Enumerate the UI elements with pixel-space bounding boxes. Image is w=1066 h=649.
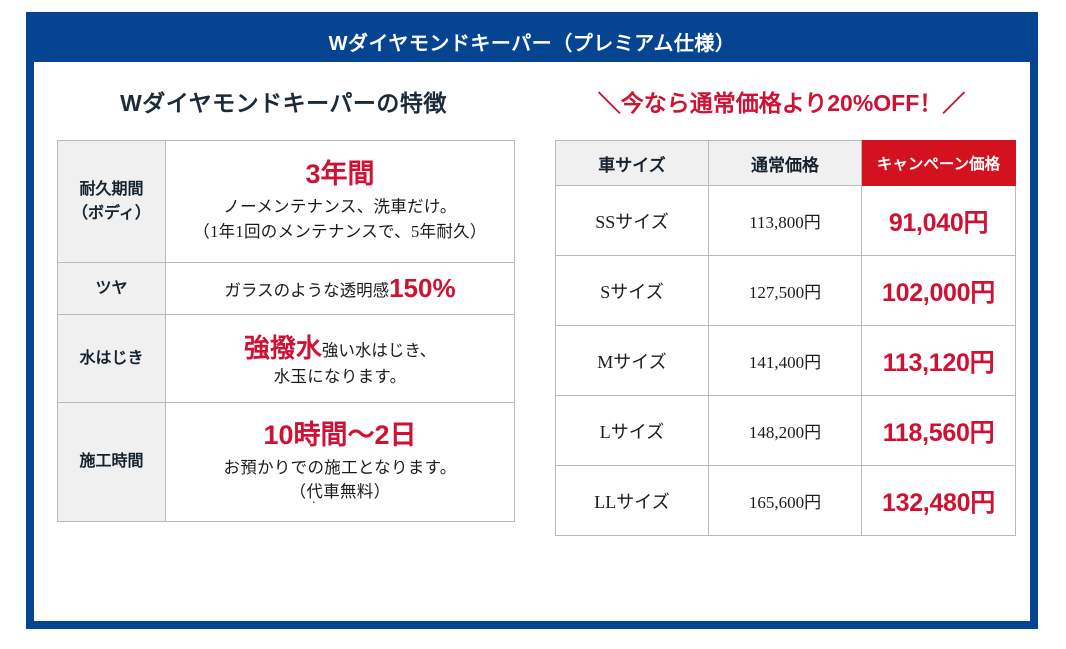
page-root: Wダイヤモンドキーパー（プレミアム仕様） Wダイヤモンドキーパーの特徴 耐久期間… [0, 0, 1066, 649]
cell-campaign-price: 113,120円 [862, 326, 1016, 396]
features-table: 耐久期間 （ボディ） 3年間 ノーメンテナンス、洗車だけ。 （1年1回のメンテナ… [57, 140, 515, 522]
table-header-row: 車サイズ 通常価格 キャンペーン価格 [556, 141, 1016, 186]
feature-detail-line2: 水玉になります。 [174, 365, 506, 390]
table-row: 耐久期間 （ボディ） 3年間 ノーメンテナンス、洗車だけ。 （1年1回のメンテナ… [58, 141, 515, 263]
feature-highlight: 3年間 [174, 158, 506, 192]
pricing-table: 車サイズ 通常価格 キャンペーン価格 SSサイズ 113,800円 91,040… [555, 140, 1016, 536]
column-header-campaign-price: キャンペーン価格 [862, 141, 1016, 186]
feature-value-water-repellency: 強撥水強い水はじき、 水玉になります。 [166, 315, 515, 403]
panel-title: Wダイヤモンドキーパー（プレミアム仕様） [329, 27, 736, 56]
cell-regular-price: 141,400円 [709, 326, 862, 396]
cell-regular-price: 113,800円 [709, 186, 862, 256]
feature-value-work-time: 10時間〜2日 お預かりでの施工となります。 （代車無料） [166, 403, 515, 522]
feature-highlight: 150% [389, 273, 456, 303]
column-header-size: 車サイズ [556, 141, 709, 186]
cell-regular-price: 127,500円 [709, 256, 862, 326]
cell-size: Mサイズ [556, 326, 709, 396]
table-row: 施工時間 10時間〜2日 お預かりでの施工となります。 （代車無料） [58, 403, 515, 522]
feature-label-work-time: 施工時間 [58, 403, 166, 522]
feature-suffix: 強い水はじき、 [322, 341, 436, 360]
feature-label-gloss: ツヤ [58, 263, 166, 315]
table-row: 水はじき 強撥水強い水はじき、 水玉になります。 [58, 315, 515, 403]
feature-value-gloss: ガラスのような透明感150% [166, 263, 515, 315]
feature-label-line2: （ボディ） [72, 205, 151, 222]
panel-body: Wダイヤモンドキーパーの特徴 耐久期間 （ボディ） 3年間 ノーメンテナンス、洗… [34, 62, 1030, 621]
panel-header: Wダイヤモンドキーパー（プレミアム仕様） [34, 20, 1030, 62]
product-panel: Wダイヤモンドキーパー（プレミアム仕様） Wダイヤモンドキーパーの特徴 耐久期間… [26, 12, 1038, 629]
feature-label-line1: 耐久期間 [79, 181, 143, 198]
cell-size: LLサイズ [556, 466, 709, 536]
feature-label-water-repellency: 水はじき [58, 315, 166, 403]
feature-detail-line1: お預かりでの施工となります。 [174, 456, 506, 481]
table-row: Mサイズ 141,400円 113,120円 [556, 326, 1016, 396]
table-row: Sサイズ 127,500円 102,000円 [556, 256, 1016, 326]
features-heading: Wダイヤモンドキーパーの特徴 [34, 84, 533, 118]
cell-campaign-price: 132,480円 [862, 466, 1016, 536]
cell-campaign-price: 102,000円 [862, 256, 1016, 326]
cell-campaign-price: 91,040円 [862, 186, 1016, 256]
column-header-regular-price: 通常価格 [709, 141, 862, 186]
cell-size: Lサイズ [556, 396, 709, 466]
stray-mark: . [312, 492, 316, 505]
cell-regular-price: 165,600円 [709, 466, 862, 536]
feature-value-durability: 3年間 ノーメンテナンス、洗車だけ。 （1年1回のメンテナンスで、5年耐久） [166, 141, 515, 263]
cell-regular-price: 148,200円 [709, 396, 862, 466]
feature-highlight: 10時間〜2日 [174, 419, 506, 453]
table-row: ツヤ ガラスのような透明感150% [58, 263, 515, 315]
feature-detail-line2: （1年1回のメンテナンスで、5年耐久） [174, 220, 506, 245]
pricing-heading: ＼今なら通常価格より20%OFF！／ [533, 84, 1030, 118]
feature-detail-line1: ノーメンテナンス、洗車だけ。 [174, 195, 506, 220]
table-row: Lサイズ 148,200円 118,560円 [556, 396, 1016, 466]
cell-size: Sサイズ [556, 256, 709, 326]
cell-campaign-price: 118,560円 [862, 396, 1016, 466]
feature-detail-line2: （代車無料） [174, 480, 506, 505]
feature-highlight: 強撥水 [244, 333, 322, 363]
feature-label-durability: 耐久期間 （ボディ） [58, 141, 166, 263]
features-column: Wダイヤモンドキーパーの特徴 耐久期間 （ボディ） 3年間 ノーメンテナンス、洗… [34, 62, 533, 621]
cell-size: SSサイズ [556, 186, 709, 256]
table-row: LLサイズ 165,600円 132,480円 [556, 466, 1016, 536]
pricing-column: ＼今なら通常価格より20%OFF！／ 車サイズ 通常価格 キャンペーン価格 SS… [533, 62, 1030, 621]
table-row: SSサイズ 113,800円 91,040円 [556, 186, 1016, 256]
feature-prefix: ガラスのような透明感 [224, 281, 389, 300]
